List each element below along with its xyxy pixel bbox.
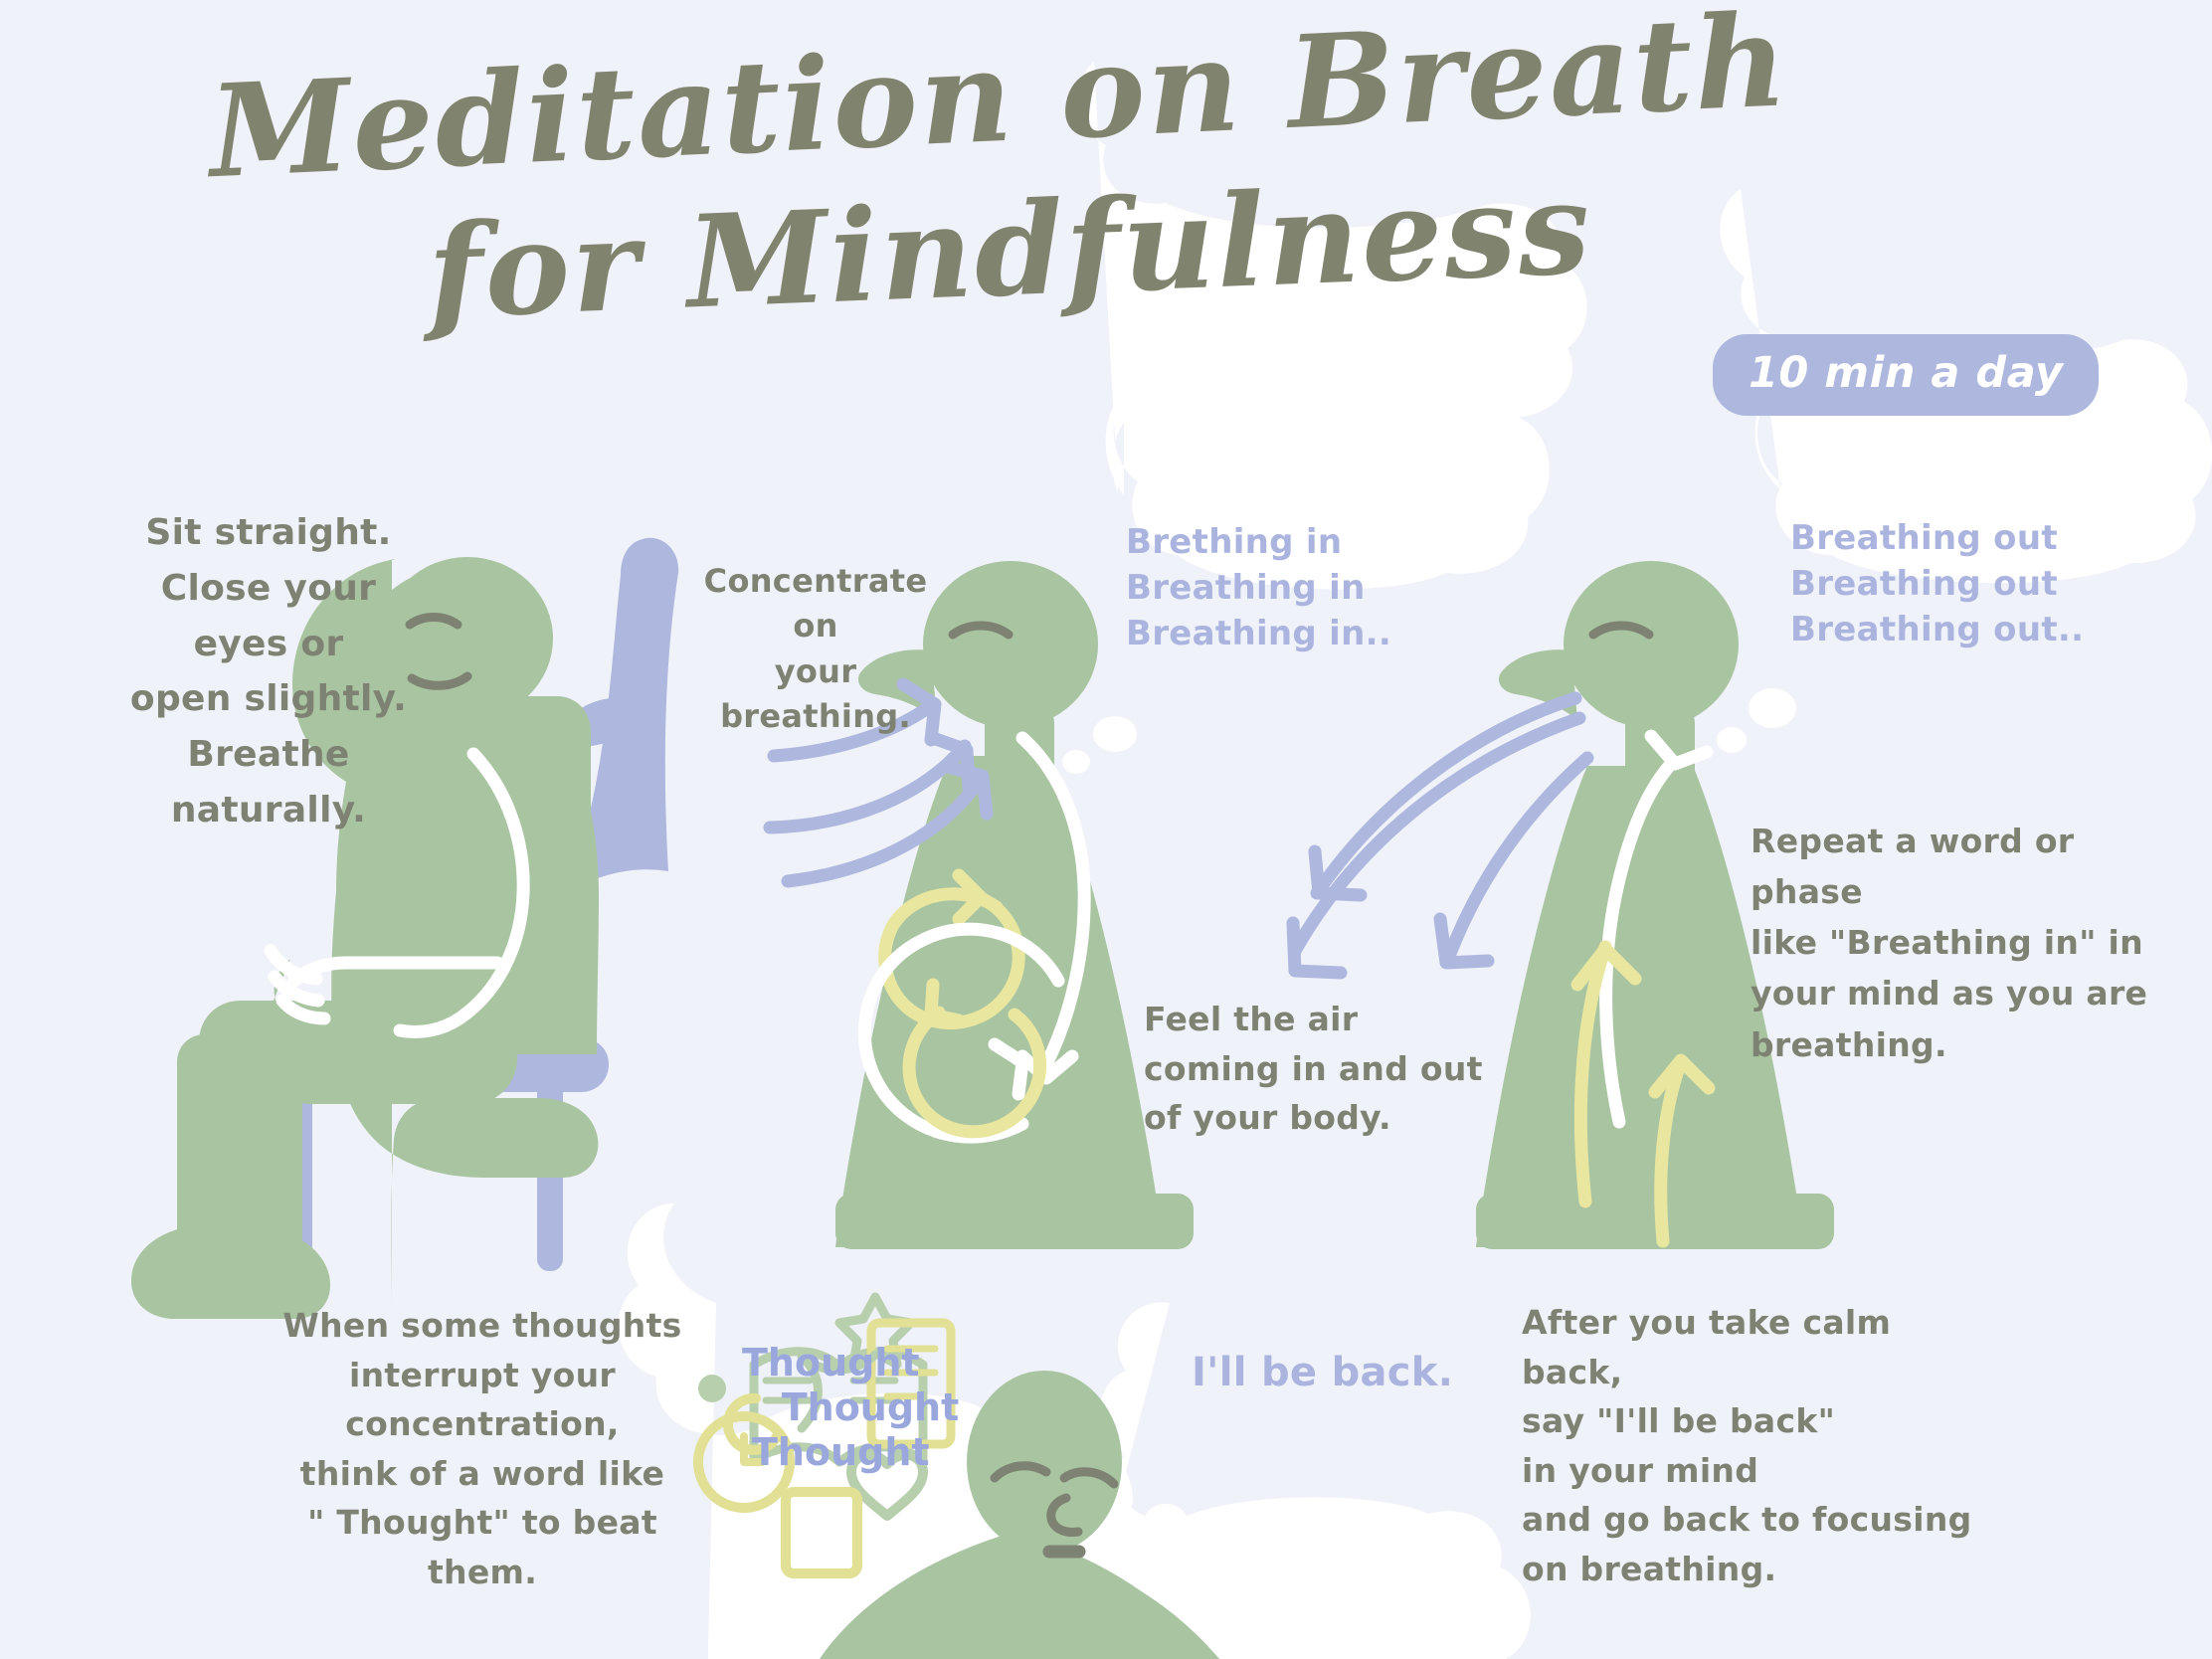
bubble-thought-text: Thought Thought Thought	[738, 1341, 967, 1474]
step-sit-straight-text: Sit straight. Close your eyes or open sl…	[109, 505, 428, 838]
thought-word-3: Thought	[752, 1430, 967, 1475]
step-feel-the-air-text: Feel the air coming in and out of your b…	[1144, 995, 1502, 1143]
step-concentrate-text: Concentrate on your breathing.	[676, 559, 955, 740]
page-title: Meditation on Breath for Mindfulness	[199, 40, 1492, 316]
title-line-2: for Mindfulness	[426, 169, 1494, 337]
duration-badge: 10 min a day	[1713, 334, 2099, 416]
step-repeat-word-text: Repeat a word or phase like "Breathing i…	[1751, 816, 2168, 1070]
step-after-calm-text: After you take calm back, say "I'll be b…	[1522, 1298, 1999, 1593]
step-thoughts-text: When some thoughts interrupt your concen…	[249, 1301, 716, 1596]
infographic-canvas: .g { fill:#a8c4a0; } .gl { fill:none; st…	[0, 0, 2212, 1659]
bubble-breathing-out	[1717, 189, 2212, 753]
bubble-ill-be-back-text: I'll be back.	[1192, 1350, 1490, 1395]
thought-word-2: Thought	[774, 1385, 967, 1430]
duration-badge-label: 10 min a day	[1749, 348, 2063, 398]
bubble-breathing-out-text: Breathing out Breathing out Breathing ou…	[1790, 515, 2119, 653]
bubble-breathing-in-text: Brething in Breathing in Breathing in..	[1126, 519, 1424, 657]
thought-word-1: Thought	[742, 1341, 967, 1385]
